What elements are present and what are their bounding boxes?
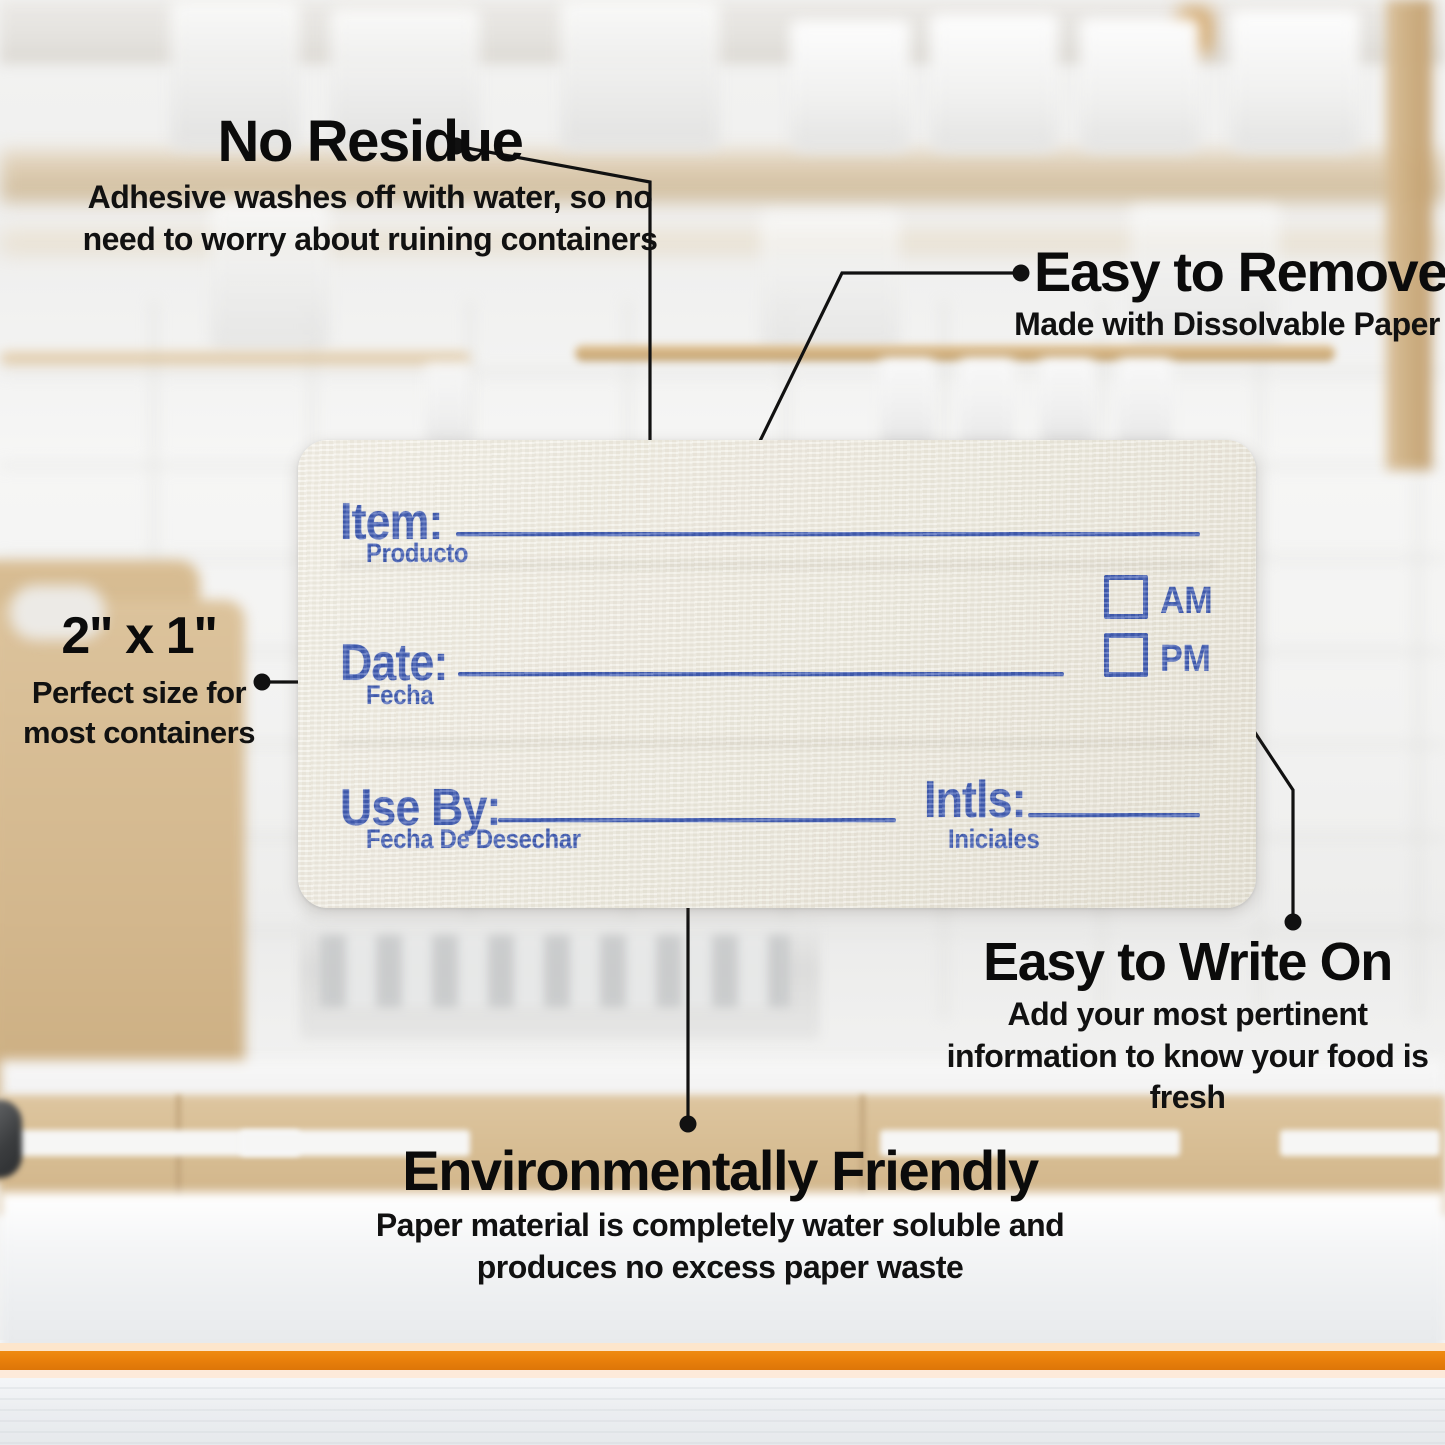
- intls-field-sublabel: Iniciales: [948, 824, 1039, 855]
- dissolvable-food-label[interactable]: Item: Producto Date: Fecha AM PM Use By:…: [298, 440, 1256, 908]
- use-by-write-line[interactable]: [498, 818, 896, 822]
- cabinet-handle-4: [1280, 1130, 1440, 1156]
- hanging-utensil-5: [425, 362, 471, 446]
- pm-checkbox-label: PM: [1160, 638, 1210, 681]
- brand-accent-stripe: [0, 1351, 1445, 1370]
- callout-no-residue-body: Adhesive washes off with water, so no ne…: [60, 177, 680, 260]
- am-checkbox[interactable]: [1104, 575, 1148, 619]
- callout-easy-to-write-on-title: Easy to Write On: [930, 935, 1445, 990]
- hanging-rail: [575, 345, 1335, 361]
- stripe-highlight-bottom: [0, 1370, 1445, 1378]
- stripe-highlight-top: [0, 1343, 1445, 1351]
- use-by-field-sublabel: Fecha De Desechar: [366, 824, 581, 855]
- label-texture-band-1: [338, 560, 1216, 570]
- callout-easy-to-remove: Easy to Remove Made with Dissolvable Pap…: [1012, 243, 1442, 346]
- callout-no-residue-title: No Residue: [60, 112, 680, 171]
- shelf-cup-2: [930, 14, 1058, 152]
- callout-environmentally-friendly-title: Environmentally Friendly: [340, 1142, 1100, 1199]
- am-checkbox-label: AM: [1160, 580, 1212, 623]
- dish-rack-slats: [320, 935, 790, 1007]
- intls-write-line[interactable]: [1028, 813, 1200, 817]
- item-field-sublabel: Producto: [366, 538, 468, 569]
- callout-size-title: 2" x 1": [0, 610, 284, 663]
- date-field-sublabel: Fecha: [366, 680, 433, 711]
- bottom-counter-surface: [0, 1378, 1445, 1445]
- callout-easy-to-remove-body: Made with Dissolvable Paper: [1012, 304, 1442, 346]
- callout-size-body: Perfect size for most containers: [0, 673, 284, 754]
- callout-size: 2" x 1" Perfect size for most containers: [0, 610, 284, 754]
- hanging-utensil-3: [1040, 358, 1094, 450]
- item-write-line[interactable]: [456, 532, 1200, 536]
- hanging-rail-left: [0, 352, 470, 364]
- callout-easy-to-remove-title: Easy to Remove: [1012, 243, 1442, 300]
- shelf-cup-4: [1230, 10, 1360, 152]
- label-texture-band-2: [338, 738, 1216, 748]
- callout-easy-to-write-on: Easy to Write On Add your most pertinent…: [930, 935, 1445, 1119]
- callout-no-residue: No Residue Adhesive washes off with wate…: [60, 112, 680, 260]
- pm-checkbox[interactable]: [1104, 633, 1148, 677]
- shelf-cup-3: [1080, 18, 1200, 152]
- callout-easy-to-write-on-body: Add your most pertinent information to k…: [930, 994, 1445, 1119]
- callout-environmentally-friendly: Environmentally Friendly Paper material …: [340, 1142, 1100, 1288]
- callout-environmentally-friendly-body: Paper material is completely water solub…: [340, 1205, 1100, 1288]
- intls-field-label: Intls:: [924, 770, 1026, 830]
- dark-appliance-edge: [0, 1100, 22, 1178]
- shelf-cup-1: [790, 20, 910, 152]
- shelf-item-b: [760, 212, 900, 352]
- date-write-line[interactable]: [458, 672, 1064, 676]
- wood-panel-right: [1386, 0, 1432, 470]
- infographic-canvas: Item: Producto Date: Fecha AM PM Use By:…: [0, 0, 1445, 1445]
